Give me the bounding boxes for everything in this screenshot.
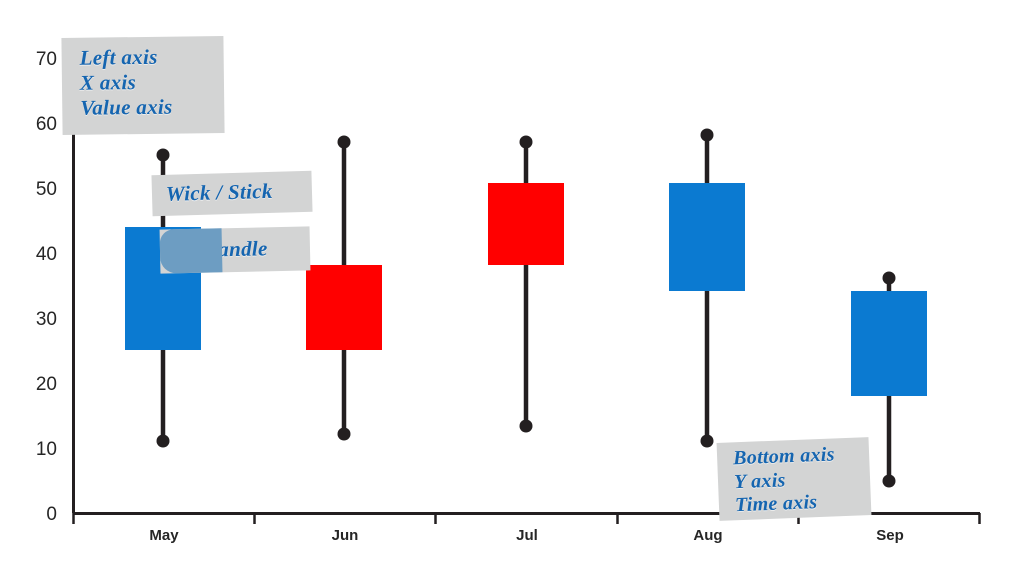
candle-high-marker: [701, 129, 714, 142]
annotation-line: X axis: [80, 69, 224, 96]
x-tick-label-sep: Sep: [876, 527, 904, 544]
candle-body[interactable]: [669, 183, 745, 291]
candle-aug[interactable]: [669, 129, 745, 448]
annotation-wick: Wick / Stick: [151, 171, 312, 216]
candle-low-marker: [883, 475, 896, 488]
candle-high-marker: [338, 136, 351, 149]
candle-low-marker: [701, 435, 714, 448]
candle-body[interactable]: [306, 265, 382, 350]
annotation-line: Time axis: [735, 489, 872, 518]
annotation-line: Left axis: [80, 44, 224, 71]
annotation-blob: [160, 228, 223, 273]
candle-low-marker: [520, 420, 533, 433]
y-tick-label: 60: [36, 114, 57, 135]
y-tick-label: 70: [36, 49, 57, 70]
y-tick-label: 10: [36, 439, 57, 460]
candle-low-marker: [338, 428, 351, 441]
annotation-line: Value axis: [80, 94, 224, 121]
annotation-left-axis: Left axis X axis Value axis: [61, 36, 224, 135]
candle-jun[interactable]: [306, 136, 382, 441]
y-tick-label: 50: [36, 179, 57, 200]
y-tick-label: 20: [36, 374, 57, 395]
annotation-line: Wick / Stick: [166, 178, 313, 207]
x-tick-label-jul: Jul: [516, 527, 538, 544]
candle-high-marker: [520, 136, 533, 149]
candlestick-chart: 70 60 50 40 30 20 10 0: [0, 0, 1027, 578]
candle-body[interactable]: [851, 291, 927, 396]
candle-low-marker: [157, 435, 170, 448]
x-tick-label-aug: Aug: [693, 527, 722, 544]
annotation-bottom-axis: Bottom axis Y axis Time axis: [717, 437, 872, 521]
candle-body[interactable]: [488, 183, 564, 265]
annotation-candle: Candle: [160, 226, 311, 273]
candle-high-marker: [157, 149, 170, 162]
candle-high-marker: [883, 272, 896, 285]
candle-jul[interactable]: [488, 136, 564, 433]
y-tick-label: 40: [36, 244, 57, 265]
x-axis-tick-labels: May Jun Jul Aug Sep: [149, 527, 903, 544]
y-tick-label: 30: [36, 309, 57, 330]
y-tick-label: 0: [46, 504, 57, 525]
x-tick-label-may: May: [149, 527, 179, 544]
x-tick-label-jun: Jun: [332, 527, 359, 544]
y-axis-tick-labels: 70 60 50 40 30 20 10 0: [36, 49, 57, 525]
